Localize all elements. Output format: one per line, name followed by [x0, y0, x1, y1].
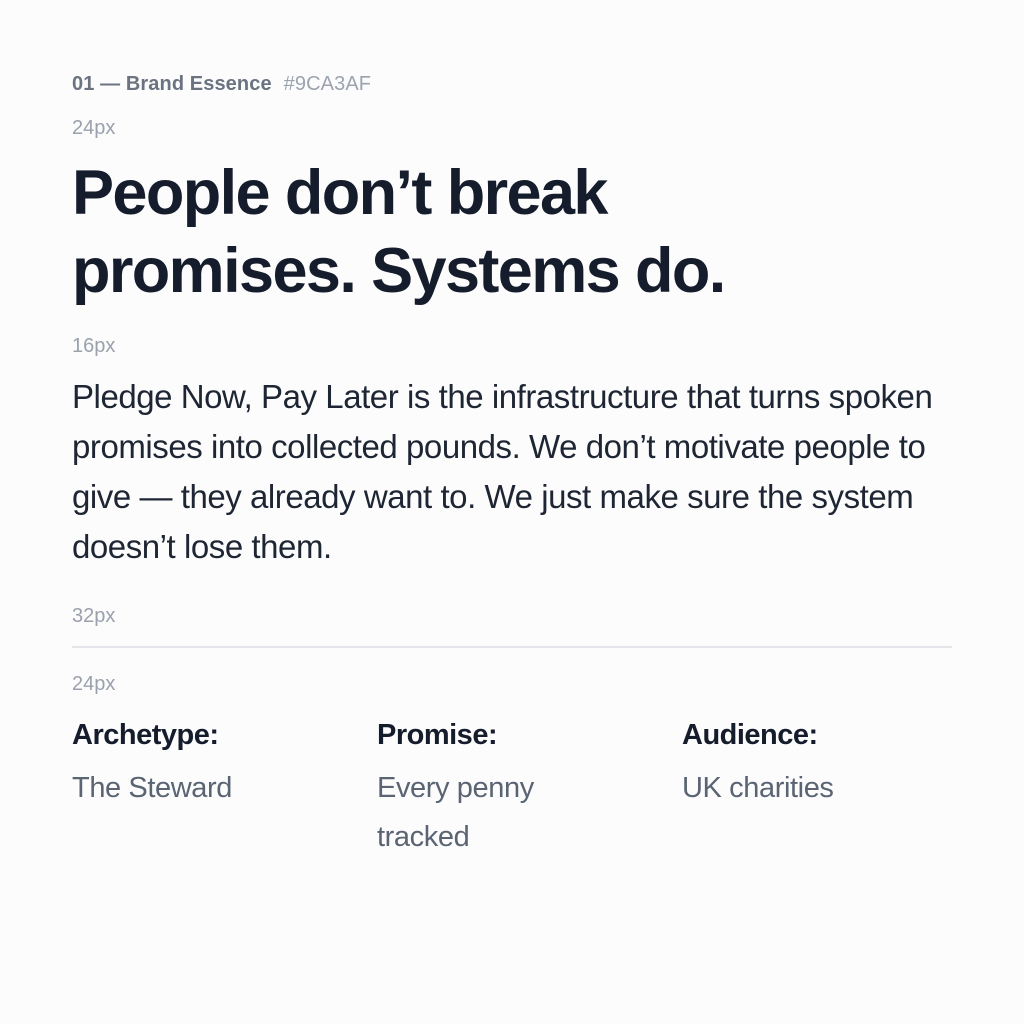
- rule-size-annotation: 32px: [72, 602, 952, 630]
- columns-size-annotation: 24px: [72, 670, 952, 698]
- meta-value: Every penny tracked: [377, 764, 632, 862]
- body-size-annotation: 16px: [72, 332, 952, 360]
- eyebrow-hex-code: #9CA3AF: [284, 73, 371, 95]
- headline-size-annotation: 24px: [72, 114, 952, 142]
- body-paragraph: Pledge Now, Pay Later is the infrastruct…: [72, 372, 952, 572]
- meta-grid: Archetype: The Steward Promise: Every pe…: [72, 714, 952, 862]
- meta-label: Promise:: [377, 714, 682, 756]
- meta-label: Audience:: [682, 714, 952, 756]
- meta-column-archetype: Archetype: The Steward: [72, 714, 377, 862]
- meta-value: The Steward: [72, 764, 327, 813]
- section-eyebrow: 01 — Brand Essence#9CA3AF: [72, 0, 952, 98]
- brand-essence-slide: 01 — Brand Essence#9CA3AF 24px People do…: [0, 0, 1024, 1024]
- meta-value: UK charities: [682, 764, 937, 813]
- meta-column-audience: Audience: UK charities: [682, 714, 952, 862]
- section-divider: [72, 646, 952, 648]
- meta-column-promise: Promise: Every penny tracked: [377, 714, 682, 862]
- meta-label: Archetype:: [72, 714, 377, 756]
- page-title: People don’t break promises. Systems do.: [72, 154, 902, 310]
- eyebrow-label: 01 — Brand Essence: [72, 73, 272, 95]
